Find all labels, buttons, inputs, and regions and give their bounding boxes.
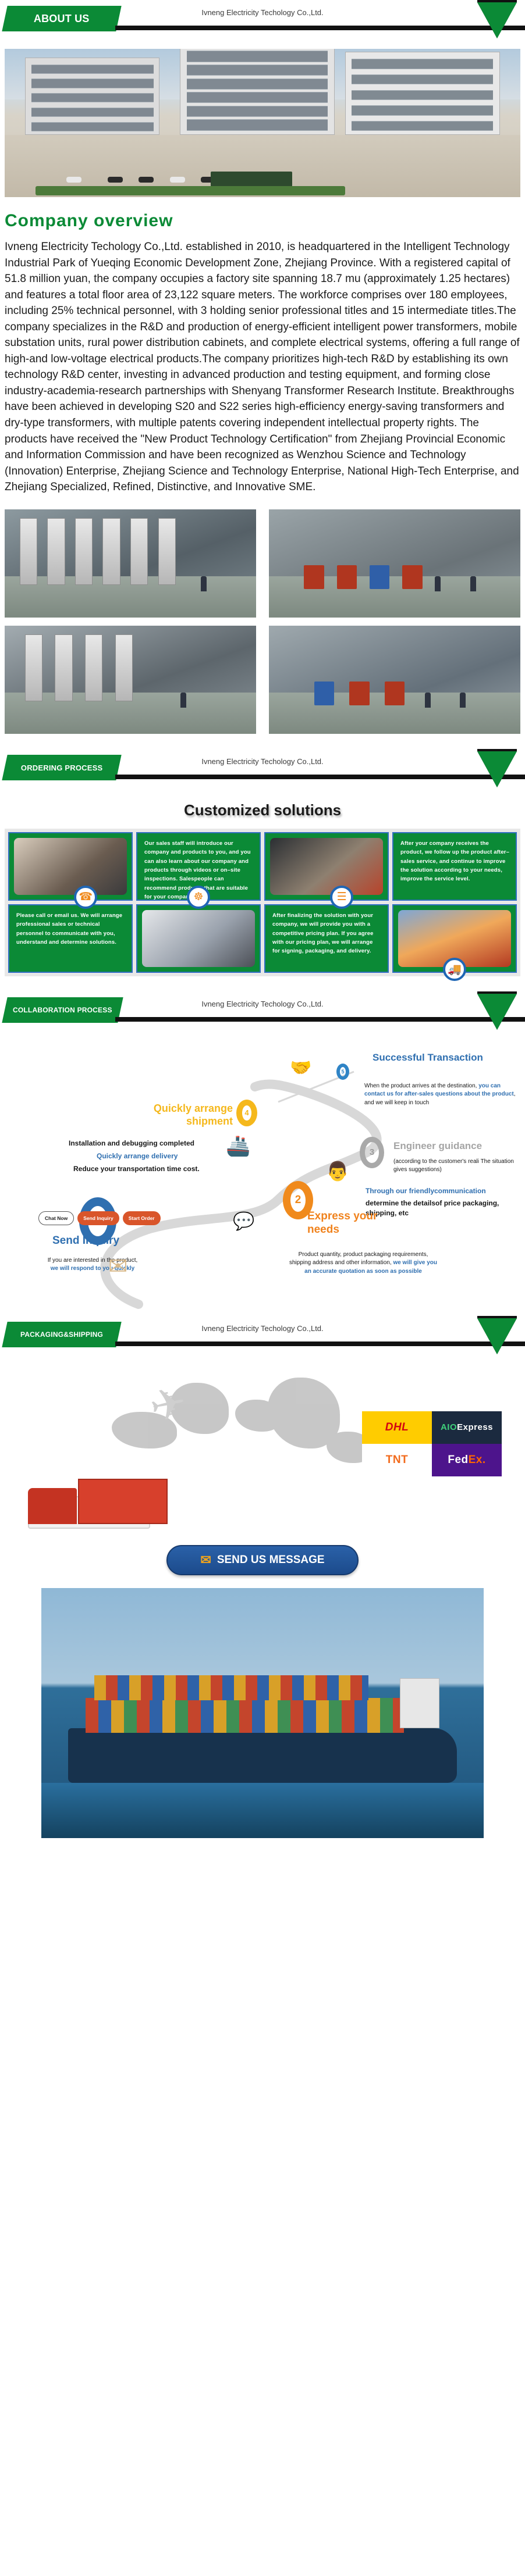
headset-agent-icon: ☎	[74, 886, 97, 909]
factory-photo-3	[5, 626, 256, 734]
chat-now-button[interactable]: Chat Now	[38, 1211, 74, 1225]
chevron-down-icon	[477, 751, 517, 787]
ship-container-deck-upper	[94, 1675, 368, 1700]
ship-bridge-tower	[400, 1678, 439, 1728]
step-4-number: 4	[236, 1100, 257, 1126]
photo-building-main	[180, 49, 335, 135]
delivery-truck-icon: 🚚	[443, 958, 466, 981]
chevron-down-icon	[477, 2, 517, 38]
step-3-highlight: Through our friendlycommunication	[366, 1187, 486, 1195]
banner-ordering-process: ORDERING PROCESS Ivneng Electricity Tech…	[0, 749, 525, 791]
solution-card-1-body: Please call or email us. We will arrange…	[9, 905, 132, 952]
factory-photo-1	[5, 509, 256, 618]
handshake-icon: ☸	[187, 886, 210, 909]
step-4-title: Quickly arrange shipment	[128, 1102, 233, 1128]
customized-solutions-grid: ☎ Our sales staff will introduce our com…	[5, 829, 520, 976]
ship-container-deck	[86, 1698, 404, 1733]
carrier-logo-grid: DHL AIOExpress TNT FedEx.	[362, 1411, 502, 1476]
banner-packaging-shipping: PACKAGING&SHIPPING Ivneng Electricity Te…	[0, 1316, 525, 1358]
factory-photo-2	[269, 509, 520, 618]
step-5-number: 5	[336, 1064, 349, 1080]
banner-rule	[115, 1341, 525, 1346]
aio-prefix: AIO	[441, 1422, 457, 1432]
banner-rule	[115, 1017, 525, 1022]
solution-card-3-text: After finalizing the solution with your …	[264, 904, 389, 973]
banner-about-us: ABOUT US Ivneng Electricity Techology Co…	[0, 0, 525, 42]
photo-window-rows	[31, 65, 154, 131]
photo-hedge	[36, 186, 345, 195]
photo-building-right	[345, 52, 500, 135]
documents-icon: ☰	[330, 886, 353, 909]
step-4-line1: Installation and debugging completed	[69, 1139, 194, 1147]
chevron-down-icon	[477, 994, 517, 1030]
aio-express-logo: AIOExpress	[432, 1411, 502, 1444]
cargo-ship-photo	[41, 1588, 484, 1838]
red-truck-graphic	[28, 1468, 168, 1524]
solution-card-4-image: 🚚	[392, 904, 517, 973]
step-3-title: Engineer guidance	[393, 1140, 482, 1152]
banner-company-name: Ivneng Electricity Techology Co.,Ltd.	[0, 8, 525, 17]
solution-card-1-text: Please call or email us. We will arrange…	[8, 904, 133, 973]
send-inquiry-button[interactable]: Send Inquiry	[77, 1211, 119, 1225]
headquarters-photo	[5, 49, 520, 197]
chevron-down-icon	[477, 1318, 517, 1354]
solution-card-2-image	[136, 904, 261, 973]
factory-packing-photo	[270, 838, 383, 895]
send-us-message-label: SEND US MESSAGE	[217, 1554, 325, 1567]
send-us-message-button[interactable]: ✉ SEND US MESSAGE	[166, 1545, 359, 1575]
step-2-title: Express your needs	[307, 1210, 406, 1237]
engineer-icon: 👨	[326, 1160, 349, 1182]
fedex-ex: Ex.	[469, 1454, 486, 1467]
photo-window-rows	[352, 59, 493, 131]
solution-card-3-image: ☰	[264, 832, 389, 901]
banner-company-name: Ivneng Electricity Techology Co.,Ltd.	[0, 757, 525, 766]
step-3-subtitle: (according to the customer's reali The s…	[393, 1158, 525, 1175]
photo-company-sign	[211, 172, 292, 187]
step-2-number: 2	[283, 1181, 313, 1219]
banner-company-name: Ivneng Electricity Techology Co.,Ltd.	[0, 1000, 525, 1008]
solution-card-2-text: Our sales staff will introduce our compa…	[136, 832, 261, 901]
company-overview-section: Company overview Ivneng Electricity Tech…	[5, 211, 520, 495]
solution-card-4-text: After your company receives the product,…	[392, 832, 517, 901]
banner-rule	[115, 26, 525, 30]
factory-photo-grid	[5, 509, 520, 734]
company-overview-text: Ivneng Electricity Techology Co.,Ltd. es…	[5, 239, 520, 495]
step-5-body: When the product arrives at the destinat…	[364, 1082, 522, 1108]
solution-card-1-image: ☎	[8, 832, 133, 901]
shipping-carriers-graphic: ✈ DHL AIOExpress TNT FedEx.	[5, 1362, 520, 1537]
banner-company-name: Ivneng Electricity Techology Co.,Ltd.	[0, 1324, 525, 1333]
cta-container: ✉ SEND US MESSAGE	[5, 1545, 520, 1575]
collaboration-infographic: Successful Transaction When the product …	[5, 1037, 520, 1310]
envelope-icon: ✉	[200, 1553, 211, 1568]
solution-card-4-body: After your company receives the product,…	[393, 833, 516, 889]
ship-water	[41, 1783, 484, 1838]
start-order-button[interactable]: Start Order	[123, 1211, 161, 1225]
step-4-line3: Reduce your transportation time cost.	[73, 1165, 200, 1173]
step-5-body-part1: When the product arrives at the destinat…	[364, 1083, 478, 1089]
step-2-body: Product quantity, product packaging requ…	[288, 1251, 439, 1276]
photo-building-left	[25, 58, 159, 135]
ship-icon: 🚢	[226, 1134, 250, 1158]
customized-solutions-title: Customized solutions	[0, 801, 525, 819]
banner-rule	[115, 775, 525, 779]
step-3-number: 3	[360, 1137, 384, 1168]
envelope-icon: ✉	[108, 1253, 128, 1280]
chat-person-icon: 💬	[233, 1211, 254, 1232]
aio-label: Express	[457, 1422, 493, 1432]
step-4-line2: Quickly arrange delivery	[97, 1152, 178, 1160]
factory-photo-4	[269, 626, 520, 734]
tnt-logo: TNT	[362, 1444, 432, 1476]
action-chip-group: Chat Now Send Inquiry Start Order	[38, 1211, 161, 1225]
sales-agent-photo	[14, 838, 127, 895]
photo-window-rows	[187, 51, 328, 130]
step-5-title: Successful Transaction	[373, 1052, 483, 1064]
fedex-logo: FedEx.	[432, 1444, 502, 1476]
solution-card-3-body: After finalizing the solution with your …	[265, 905, 388, 961]
ship-hull	[68, 1728, 457, 1783]
handshake-icon: 🤝	[290, 1058, 311, 1078]
fedex-fed: Fed	[448, 1454, 468, 1467]
meeting-photo	[142, 910, 255, 967]
page-title: Company overview	[5, 211, 520, 231]
dhl-logo: DHL	[362, 1411, 432, 1444]
banner-collaboration-process: COLLABORATION PROCESS Ivneng Electricity…	[0, 991, 525, 1033]
